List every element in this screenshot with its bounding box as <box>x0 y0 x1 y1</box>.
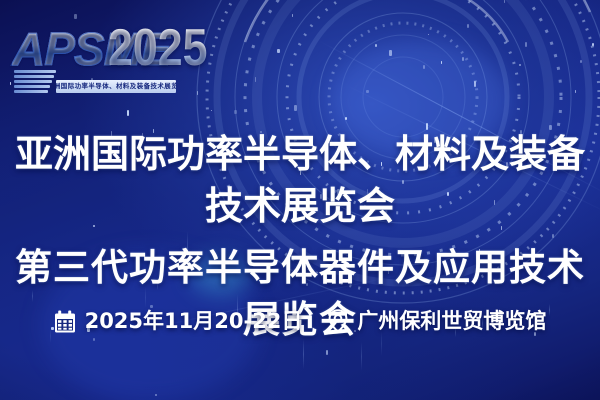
event-date-item: 2025年11月20-22日 <box>54 308 303 334</box>
logo-subtitle-text: 亚洲国际功率半导体、材料及装备技术展览会 <box>56 83 176 89</box>
event-banner: APSME 亚洲国际功率半导体、材料及装备技术展览会 2025 亚洲国际功率半导… <box>0 0 600 400</box>
location-pin-icon <box>328 309 348 333</box>
chip-stack-icon <box>14 70 58 96</box>
event-date-text: 2025年11月20-22日 <box>85 308 303 334</box>
event-info-bar: 2025年11月20-22日 广州保利世贸博览馆 <box>0 308 600 334</box>
event-venue-item: 广州保利世贸博览馆 <box>328 308 546 334</box>
logo-year: 2025 <box>108 22 207 74</box>
event-venue-text: 广州保利世贸博览馆 <box>357 308 546 334</box>
title-line-1: 亚洲国际功率半导体、材料及装备技术展览会 <box>0 128 600 232</box>
logo-subtitle-strip: 亚洲国际功率半导体、材料及装备技术展览会 <box>56 80 176 93</box>
calendar-icon <box>54 310 76 333</box>
